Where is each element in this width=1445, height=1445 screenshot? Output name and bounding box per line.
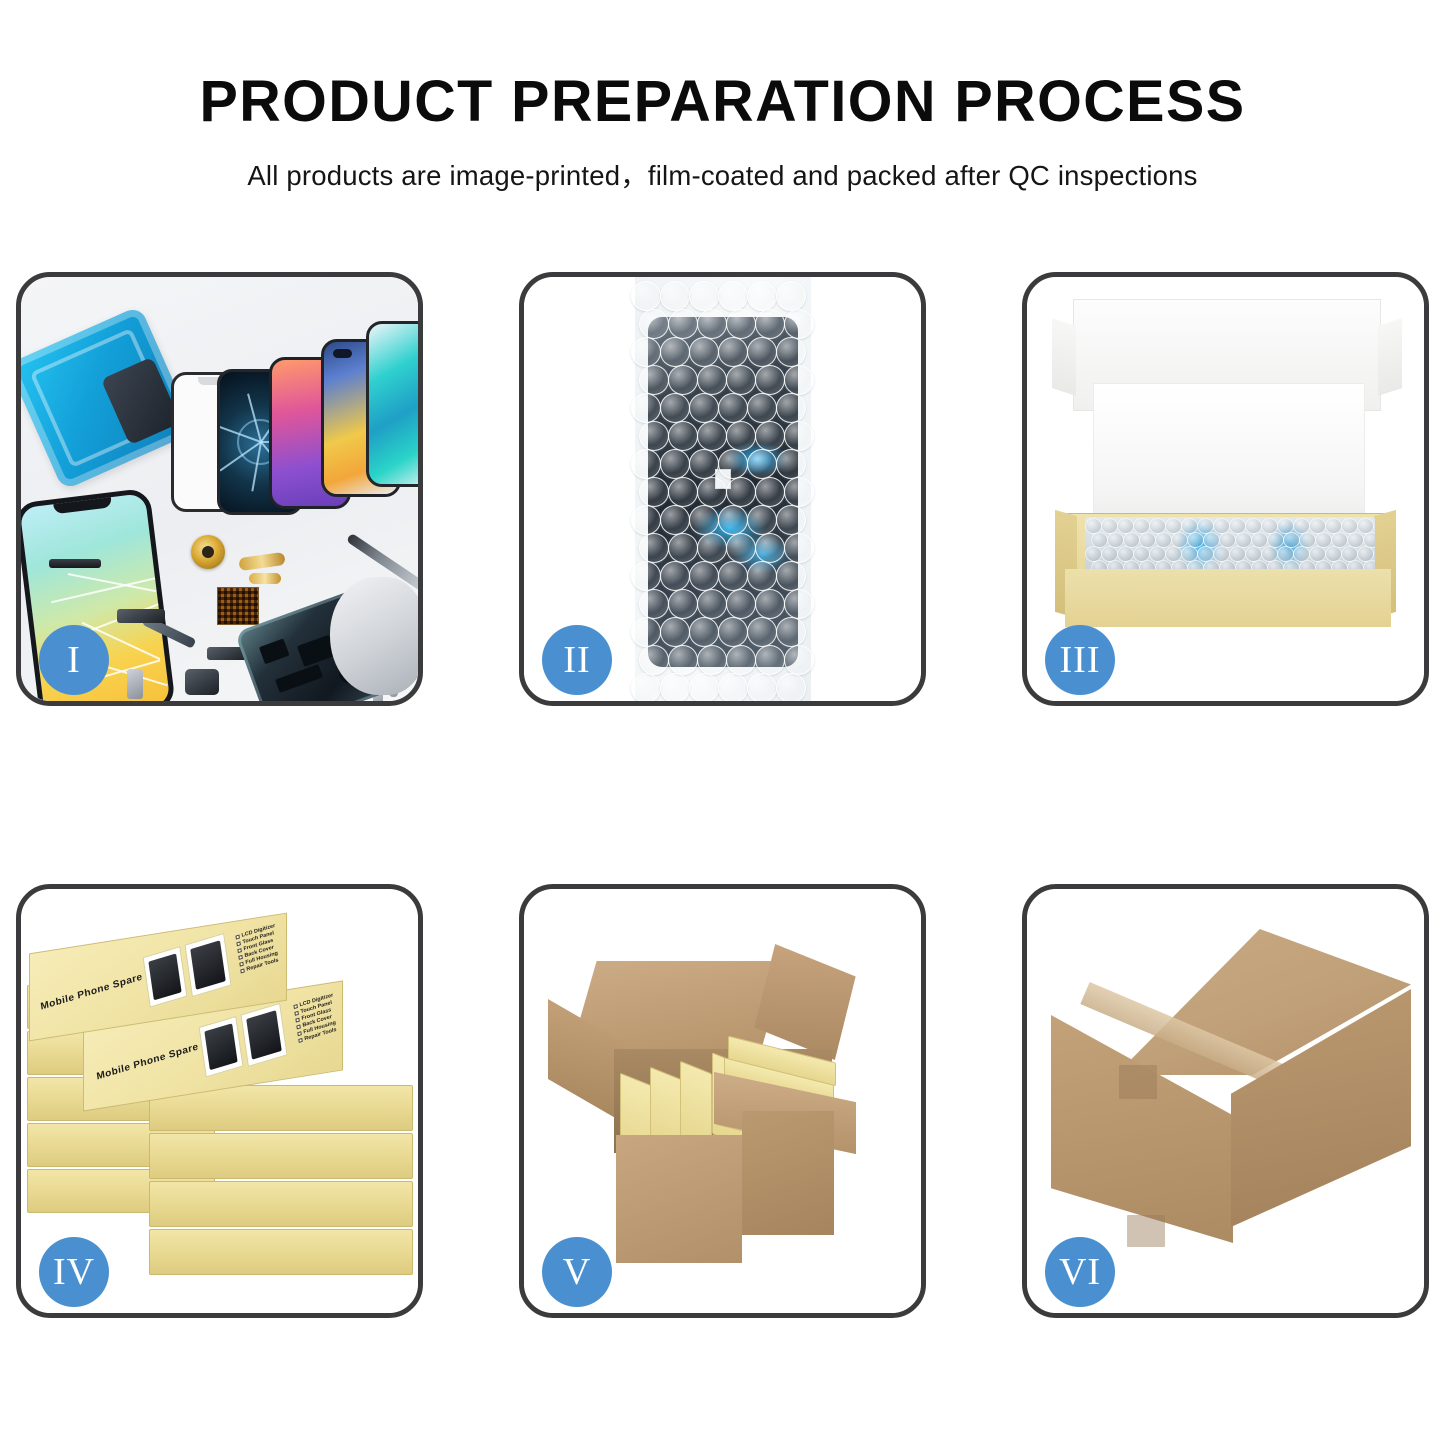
retail-box-window-right [240,1003,287,1067]
bubble-cell [697,421,727,451]
bubble-cell [726,365,756,395]
bubble-cell [631,393,661,423]
bubble-cell [718,561,748,591]
carton-tab-lower [1127,1215,1165,1247]
gloved-hand [330,577,418,695]
bubble-cell [631,505,661,535]
retail-box-checklist-2: LCD Digitizer Touch Panel Front Glass Ba… [293,992,338,1044]
sim-tray-part [127,669,143,699]
mailer-box-front-wall [1065,569,1391,627]
step-badge-iii: III [1045,625,1115,695]
shield-mesh-part [217,587,259,625]
bubble-cell [784,477,814,507]
process-step-panel-vi: VI [1022,884,1429,1318]
page-header: PRODUCT PREPARATION PROCESS All products… [0,0,1445,193]
gold-flex-connector-small [249,573,281,584]
bubble-cell [747,561,777,591]
bubble-cell [747,449,777,479]
bubble-cell [718,673,748,701]
bubble-cell [697,533,727,563]
bubble-cell [726,589,756,619]
bubble-cell [689,505,719,535]
bubble-wrap-texture [635,277,811,701]
bubble-cell [747,281,777,311]
bubble-cell [689,281,719,311]
bubble-cell [639,533,669,563]
bubble-wrap-bag [635,277,811,701]
bubble-cell [726,309,756,339]
retail-box-window-left [143,946,188,1008]
packed-bubble-wrapped-screen [1085,517,1375,573]
mailer-box-foam-back [1093,383,1365,527]
teal-display-panel [366,321,418,487]
bubble-cell [776,393,806,423]
gold-flex-connector [238,552,285,571]
bubble-cell [660,505,690,535]
bubble-cell [718,617,748,647]
bubble-cell [668,645,698,675]
bubble-cell [784,365,814,395]
step-badge-v: V [542,1237,612,1307]
bubble-cell [660,393,690,423]
earpiece-speaker-part [49,559,101,568]
bubble-cell [726,645,756,675]
bubble-cell [639,309,669,339]
bubble-cell [631,449,661,479]
retail-box-window-right [184,933,231,997]
bubble-cell [697,645,727,675]
bubble-cell [718,449,748,479]
bubble-cell [697,589,727,619]
bubble-cell [631,337,661,367]
process-step-panel-iv: Mobile Phone Spare Parts LCD Digitizer T… [16,884,423,1318]
bubble-cell [660,673,690,701]
bubble-cell [639,421,669,451]
bubble-cell [747,393,777,423]
bubble-cell [718,337,748,367]
bubble-cell [755,365,785,395]
bubble-cell [668,589,698,619]
bubble-cell [755,309,785,339]
carton-side-front [616,1135,742,1263]
retail-box-window-left [199,1016,244,1078]
bubble-cell [631,561,661,591]
retail-box-checklist-1: LCD Digitizer Touch Panel Front Glass Ba… [235,923,280,975]
camera-module-part [117,609,165,623]
bubble-cell [689,561,719,591]
process-step-panel-ii: II [519,272,926,706]
bubble-cell [726,533,756,563]
wireless-charging-coil [191,535,225,569]
bubble-cell [660,561,690,591]
bubble-cell [697,477,727,507]
bubble-cell [755,477,785,507]
bubble-cell [660,281,690,311]
step-badge-iv: IV [39,1237,109,1307]
bubble-cell [689,449,719,479]
bubble-cell [784,645,814,675]
page-title: PRODUCT PREPARATION PROCESS [7,72,1438,133]
bubble-cell [660,337,690,367]
bubble-cell [747,505,777,535]
retail-box-side [149,1133,413,1179]
bubble-cell [755,533,785,563]
step-badge-vi: VI [1045,1237,1115,1307]
bubble-cell [639,589,669,619]
process-step-grid: I II [16,272,1429,1318]
bubble-cell [668,309,698,339]
bubble-cell [747,673,777,701]
carton-side-right [742,1111,834,1235]
bubble-cell [718,505,748,535]
bubble-cell [776,281,806,311]
bubble-cell [784,589,814,619]
bubble-cell [755,645,785,675]
bubble-cell [697,365,727,395]
bubble-cell [784,309,814,339]
bubble-cell [755,589,785,619]
step-badge-i: I [39,625,109,695]
bubble-cell [776,673,806,701]
bubble-cell [639,477,669,507]
taptic-engine-part [185,669,219,695]
bubble-cell [689,337,719,367]
bubble-cell [639,645,669,675]
bubble-cell [776,617,806,647]
bubble-cell [639,365,669,395]
bubble-cell [689,673,719,701]
bubble-cell [784,421,814,451]
bubble-cell [776,505,806,535]
carton-tab-upper [1119,1065,1157,1099]
step-badge-ii: II [542,625,612,695]
page-subtitle: All products are image-printed，film-coat… [0,153,1445,193]
bubble-cell [776,337,806,367]
bubble-cell [697,309,727,339]
bubble-cell [668,477,698,507]
bubble-cell [747,617,777,647]
bubble-cell [660,449,690,479]
bubble-cell [718,281,748,311]
bubble-cell [668,365,698,395]
bubble-cell [776,561,806,591]
bubble-cell [660,617,690,647]
process-step-panel-i: I [16,272,423,706]
bubble-cell [631,673,661,701]
process-step-panel-v: V [519,884,926,1318]
bubble-cell [689,393,719,423]
bubble-cell [631,281,661,311]
bubble-cell [747,337,777,367]
bubble-cell [668,533,698,563]
retail-box-side [149,1181,413,1227]
bubble-cell [631,617,661,647]
bubble-cell [668,421,698,451]
bubble-cell [784,533,814,563]
process-step-panel-iii: III [1022,272,1429,706]
bubble-cell [718,393,748,423]
retail-box-side [149,1229,413,1275]
bubble-cell [726,421,756,451]
bubble-cell [689,617,719,647]
bubble-cell [755,421,785,451]
bubble-cell [726,477,756,507]
bubble-cell [776,449,806,479]
